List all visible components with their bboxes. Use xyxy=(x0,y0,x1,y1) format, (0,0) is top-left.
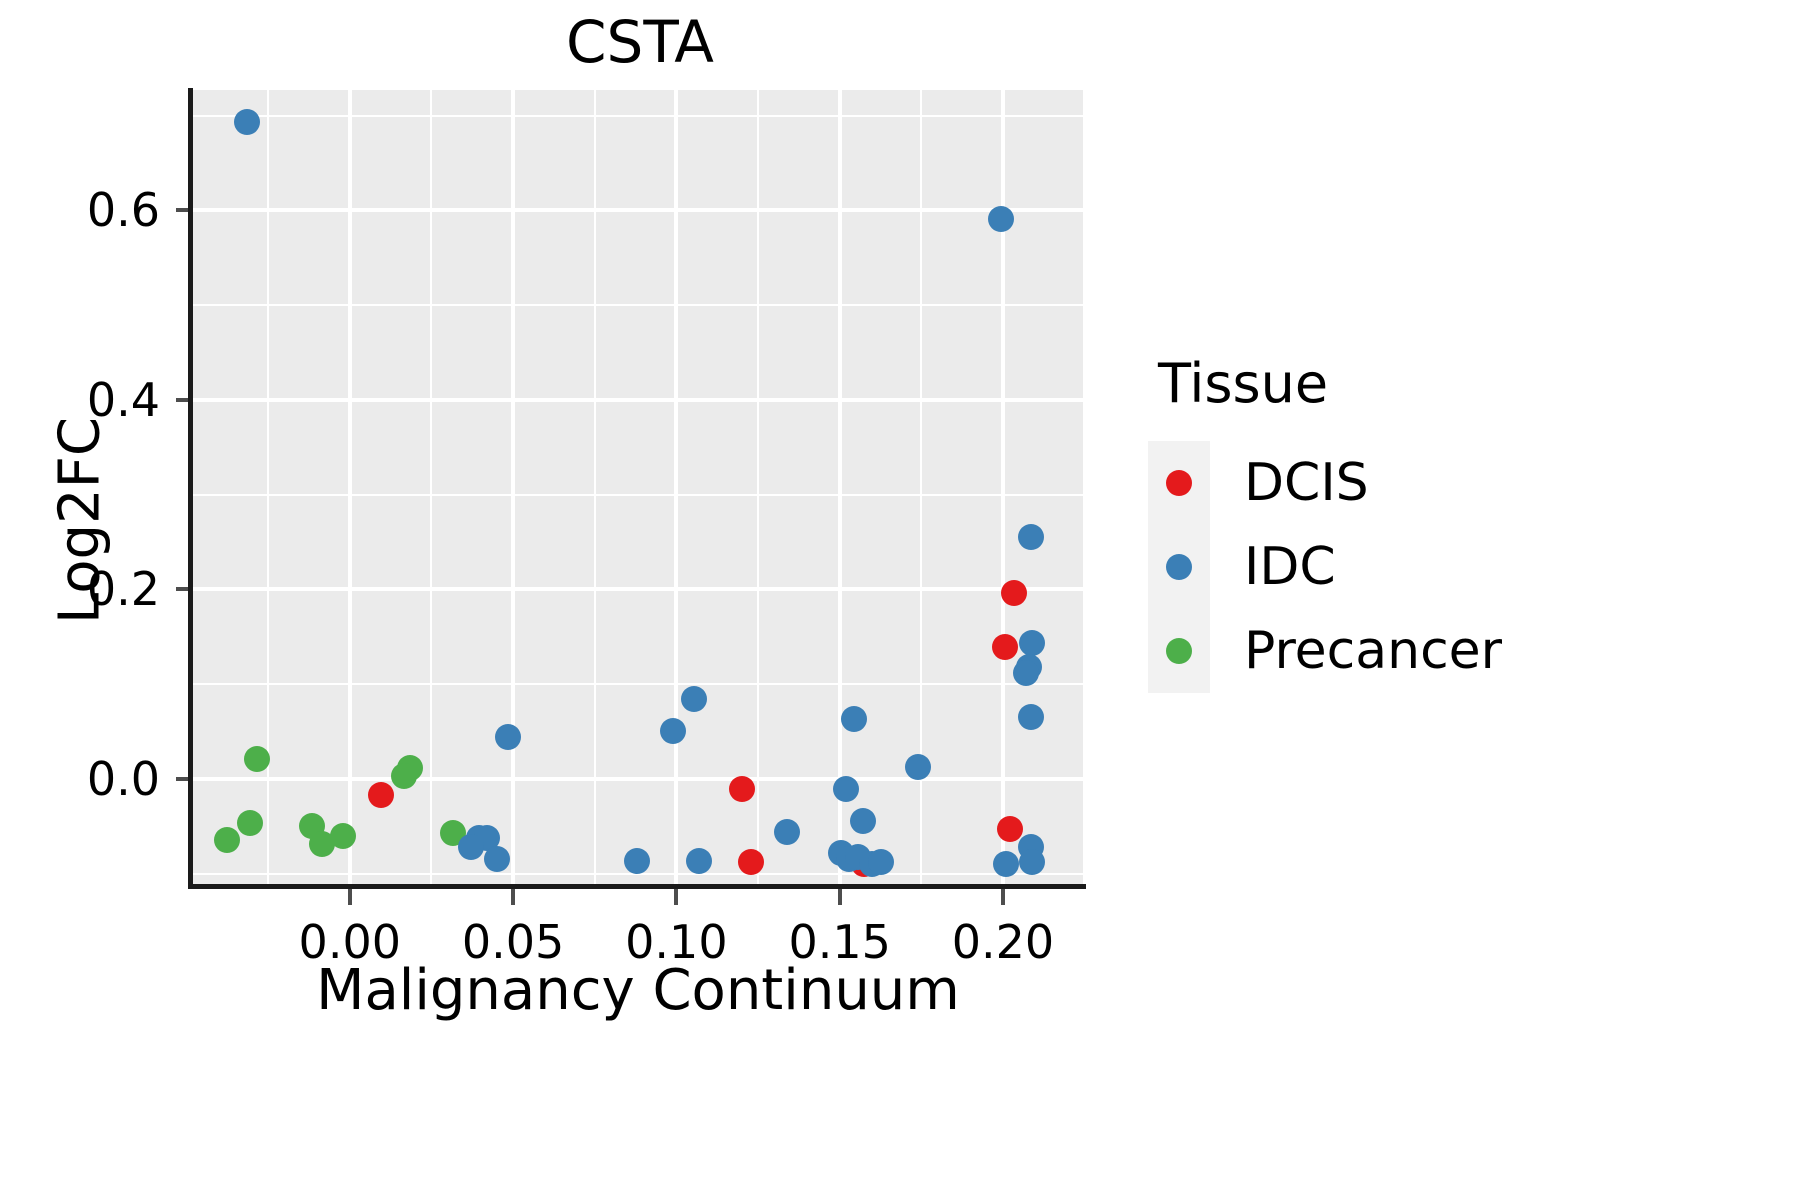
gridline-horizontal-minor xyxy=(193,683,1083,685)
legend: Tissue DCISIDCPrecancer xyxy=(1148,352,1668,693)
data-point-idc xyxy=(988,206,1014,232)
x-tick-mark xyxy=(1001,889,1005,905)
data-point-idc xyxy=(1019,849,1045,875)
data-point-idc xyxy=(681,686,707,712)
y-tick-mark xyxy=(176,398,188,402)
gridline-horizontal-major xyxy=(193,398,1083,402)
y-tick-mark xyxy=(176,587,188,591)
legend-title: Tissue xyxy=(1158,352,1668,415)
data-point-dcis xyxy=(738,849,764,875)
legend-entries: DCISIDCPrecancer xyxy=(1148,441,1668,693)
legend-label: Precancer xyxy=(1244,621,1502,681)
data-point-idc xyxy=(1019,630,1045,656)
x-tick-mark xyxy=(348,889,352,905)
y-axis-line xyxy=(188,88,193,887)
data-point-dcis xyxy=(992,634,1018,660)
data-point-idc xyxy=(1013,660,1039,686)
legend-key-swatch xyxy=(1148,441,1210,525)
data-point-idc xyxy=(774,819,800,845)
x-tick-mark xyxy=(674,889,678,905)
legend-dot-icon xyxy=(1166,638,1192,664)
data-point-precancer xyxy=(244,746,270,772)
data-point-idc xyxy=(1018,524,1044,550)
data-point-idc xyxy=(993,851,1019,877)
data-point-precancer xyxy=(391,763,417,789)
y-tick-mark xyxy=(176,777,188,781)
x-tick-mark xyxy=(838,889,842,905)
data-point-dcis xyxy=(729,776,755,802)
y-tick-mark xyxy=(176,208,188,212)
y-axis-title: Log2FC xyxy=(48,261,113,781)
legend-dot-icon xyxy=(1166,554,1192,580)
gridline-horizontal-major xyxy=(193,587,1083,591)
legend-item-precancer[interactable]: Precancer xyxy=(1148,609,1668,693)
chart-root: CSTA 0.00.20.40.6 0.000.050.100.150.20 L… xyxy=(0,0,1800,1200)
data-point-idc xyxy=(841,706,867,732)
legend-key-swatch xyxy=(1148,609,1210,693)
data-point-precancer xyxy=(214,827,240,853)
plot-panel xyxy=(193,90,1083,885)
data-point-dcis xyxy=(997,816,1023,842)
legend-dot-icon xyxy=(1166,470,1192,496)
data-point-idc xyxy=(624,848,650,874)
data-point-dcis xyxy=(1001,580,1027,606)
gridline-horizontal-major xyxy=(193,777,1083,781)
legend-label: IDC xyxy=(1244,537,1336,597)
data-point-precancer xyxy=(330,823,356,849)
data-point-idc xyxy=(660,718,686,744)
data-point-idc xyxy=(833,776,859,802)
data-point-dcis xyxy=(368,782,394,808)
data-point-idc xyxy=(686,848,712,874)
data-point-idc xyxy=(905,754,931,780)
legend-key-swatch xyxy=(1148,525,1210,609)
gridline-horizontal-minor xyxy=(193,494,1083,496)
data-point-idc xyxy=(484,846,510,872)
data-point-idc xyxy=(868,849,894,875)
x-axis-line xyxy=(188,884,1086,889)
data-point-idc xyxy=(495,724,521,750)
x-tick-mark xyxy=(511,889,515,905)
data-point-precancer xyxy=(237,810,263,836)
data-point-idc xyxy=(1018,704,1044,730)
x-axis-title: Malignancy Continuum xyxy=(193,958,1083,1023)
legend-item-dcis[interactable]: DCIS xyxy=(1148,441,1668,525)
gridline-horizontal-minor xyxy=(193,115,1083,117)
chart-title: CSTA xyxy=(0,8,1280,76)
legend-label: DCIS xyxy=(1244,453,1369,513)
gridline-horizontal-minor xyxy=(193,304,1083,306)
gridline-horizontal-major xyxy=(193,208,1083,212)
data-point-idc xyxy=(234,109,260,135)
data-point-idc xyxy=(458,834,484,860)
data-point-idc xyxy=(850,808,876,834)
legend-item-idc[interactable]: IDC xyxy=(1148,525,1668,609)
y-tick-label: 0.6 xyxy=(87,183,160,237)
